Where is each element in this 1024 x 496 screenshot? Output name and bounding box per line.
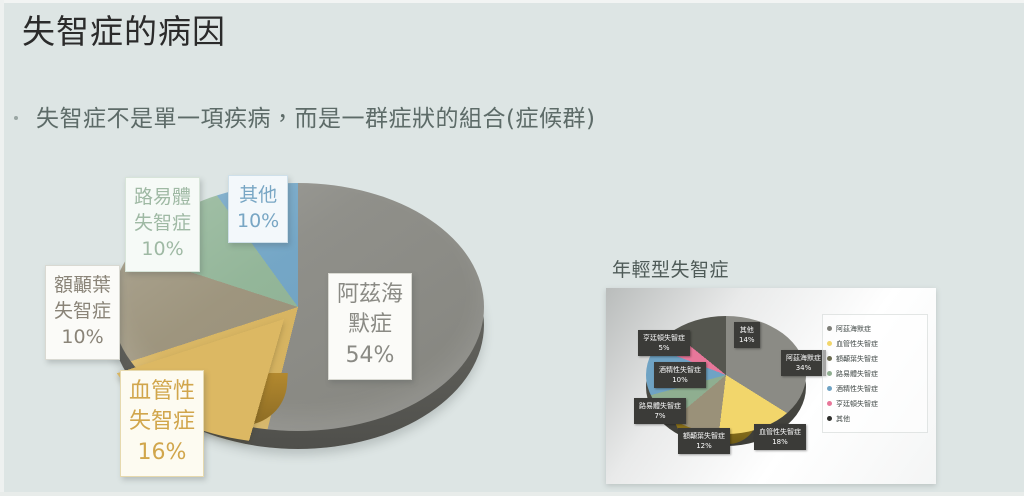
legend-item: 亨廷頓失智症 [827,396,923,411]
slide-left-edge [0,0,4,496]
inset-label-lewy-percent: 7% [639,411,681,421]
legend-item-label: 血管性失智症 [836,339,878,349]
legend-item-label: 其他 [836,414,850,424]
legend-swatch-icon [827,326,832,331]
pie-label-lewy-percent: 10% [134,236,191,262]
inset-label-alzheimer-name: 阿茲海默症 [786,353,821,363]
pie-label-other-percent: 10% [237,208,279,234]
legend-item: 額顳葉失智症 [827,351,923,366]
inset-label-other-name: 其他 [739,325,755,335]
legend-item: 阿茲海默症 [827,321,923,336]
pie-label-frontotemporal: 額顳葉 失智症 10% [45,265,120,360]
pie-label-vascular-line1: 血管性 [129,377,195,407]
pie-label-frontotemporal-percent: 10% [54,324,111,350]
inset-label-vascular-name: 血管性失智症 [759,427,801,437]
pie-label-alzheimer-line1: 阿茲海 [337,280,403,310]
pie-label-vascular-percent: 16% [129,438,195,468]
inset-label-alcohol-percent: 10% [659,375,701,385]
inset-label-other: 其他 14% [734,322,760,348]
pie-label-lewy: 路易體 失智症 10% [125,177,200,272]
pie-label-vascular-line2: 失智症 [129,407,195,437]
inset-label-frontotemporal-name: 額顳葉失智症 [683,431,725,441]
slide-top-edge [0,0,1024,3]
legend-swatch-icon [827,401,832,406]
pie-label-vascular: 血管性 失智症 16% [120,370,204,477]
pie-label-alzheimer-percent: 54% [337,341,403,371]
pie-label-frontotemporal-line2: 失智症 [54,298,111,324]
legend-item-label: 路易體失智症 [836,369,878,379]
pie-label-lewy-line2: 失智症 [134,210,191,236]
inset-chart-title: 年輕型失智症 [612,255,729,282]
slide: 失智症的病因 失智症不是單一項疾病，而是一群症狀的組合(症候群) 阿茲海 默症 … [0,0,1024,496]
legend-swatch-icon [827,416,832,421]
bullet-row: 失智症不是單一項疾病，而是一群症狀的組合(症候群) [14,104,595,134]
inset-label-frontotemporal-percent: 12% [683,441,725,451]
pie-label-other-line1: 其他 [237,182,279,208]
slide-bottom-edge [0,492,1024,496]
inset-label-lewy-name: 路易體失智症 [639,401,681,411]
legend-item: 其他 [827,411,923,426]
inset-label-vascular-percent: 18% [759,437,801,447]
legend-item-label: 酒精性失智症 [836,384,878,394]
pie-label-frontotemporal-line1: 額顳葉 [54,272,111,298]
inset-label-huntington-name: 亨廷頓失智症 [643,333,685,343]
inset-label-vascular: 血管性失智症 18% [754,424,806,450]
legend-swatch-icon [827,386,832,391]
main-pie-chart: 阿茲海 默症 54% 血管性 失智症 16% 額顳葉 失智症 10% 路易體 失… [40,165,510,485]
inset-legend: 阿茲海默症血管性失智症額顳葉失智症路易體失智症酒精性失智症亨廷頓失智症其他 [822,314,928,433]
legend-item: 血管性失智症 [827,336,923,351]
inset-pie-chart: 亨廷頓失智症 5% 其他 14% 阿茲海默症 34% 酒精性失智症 10% 路易… [606,288,936,484]
inset-label-huntington-percent: 5% [643,343,685,353]
inset-label-lewy: 路易體失智症 7% [634,398,686,424]
legend-swatch-icon [827,341,832,346]
inset-label-alcohol: 酒精性失智症 10% [654,362,706,388]
pie-label-alzheimer-line2: 默症 [337,310,403,340]
legend-item-label: 亨廷頓失智症 [836,399,878,409]
legend-swatch-icon [827,356,832,361]
inset-label-huntington: 亨廷頓失智症 5% [638,330,690,356]
pie-label-lewy-line1: 路易體 [134,184,191,210]
pie-label-alzheimer: 阿茲海 默症 54% [328,273,412,380]
legend-item: 酒精性失智症 [827,381,923,396]
inset-label-alcohol-name: 酒精性失智症 [659,365,701,375]
legend-item-label: 阿茲海默症 [836,324,871,334]
inset-label-frontotemporal: 額顳葉失智症 12% [678,428,730,454]
legend-swatch-icon [827,371,832,376]
inset-pie-stage: 亨廷頓失智症 5% 其他 14% 阿茲海默症 34% 酒精性失智症 10% 路易… [616,300,821,470]
pie-label-other: 其他 10% [228,175,288,243]
inset-label-alzheimer-percent: 34% [786,363,821,373]
bullet-dot-icon [14,116,18,120]
page-title: 失智症的病因 [22,10,226,54]
inset-label-alzheimer: 阿茲海默症 34% [781,350,826,376]
legend-item-label: 額顳葉失智症 [836,354,878,364]
legend-item: 路易體失智症 [827,366,923,381]
inset-label-other-percent: 14% [739,335,755,345]
bullet-text: 失智症不是單一項疾病，而是一群症狀的組合(症候群) [36,104,595,134]
